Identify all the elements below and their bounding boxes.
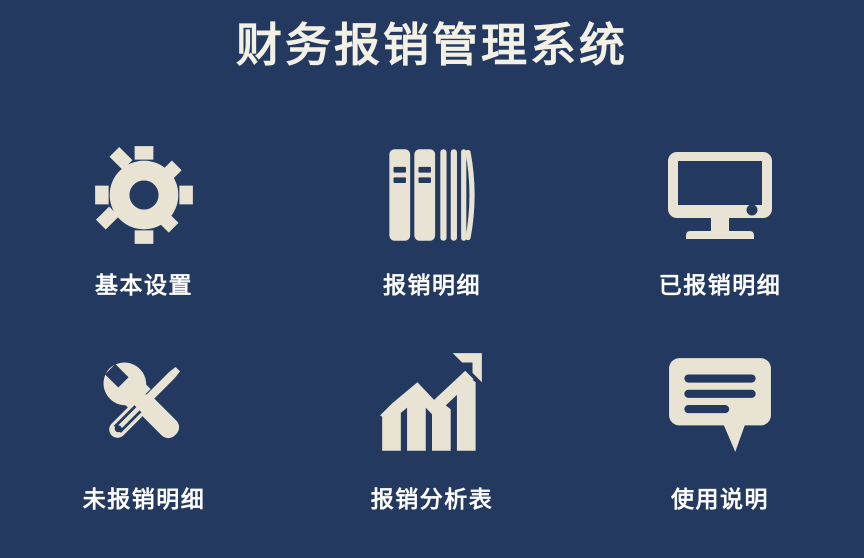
speech-bubble-icon	[665, 348, 775, 458]
menu-item-label: 报销明细	[383, 266, 481, 300]
books-icon	[377, 140, 487, 250]
menu-item-label: 未报销明细	[83, 480, 206, 514]
menu-item-analysis-report[interactable]: 报销分析表	[288, 340, 576, 540]
tools-icon	[89, 348, 199, 458]
menu-item-label: 基本设置	[95, 266, 193, 300]
menu-item-label: 使用说明	[671, 480, 769, 514]
menu-grid: 基本设置	[0, 140, 864, 540]
menu-item-reimbursed-details[interactable]: 已报销明细	[576, 140, 864, 340]
menu-item-instructions[interactable]: 使用说明	[576, 340, 864, 540]
gear-icon	[89, 140, 199, 250]
monitor-icon	[665, 140, 775, 250]
menu-item-basic-settings[interactable]: 基本设置	[0, 140, 288, 340]
bar-chart-arrow-icon	[377, 348, 487, 458]
menu-item-label: 报销分析表	[371, 480, 494, 514]
app-window: 财务报销管理系统	[0, 0, 864, 558]
menu-item-unreimbursed-details[interactable]: 未报销明细	[0, 340, 288, 540]
page-title: 财务报销管理系统	[0, 14, 864, 76]
menu-item-reimbursement-details[interactable]: 报销明细	[288, 140, 576, 340]
menu-item-label: 已报销明细	[659, 266, 782, 300]
